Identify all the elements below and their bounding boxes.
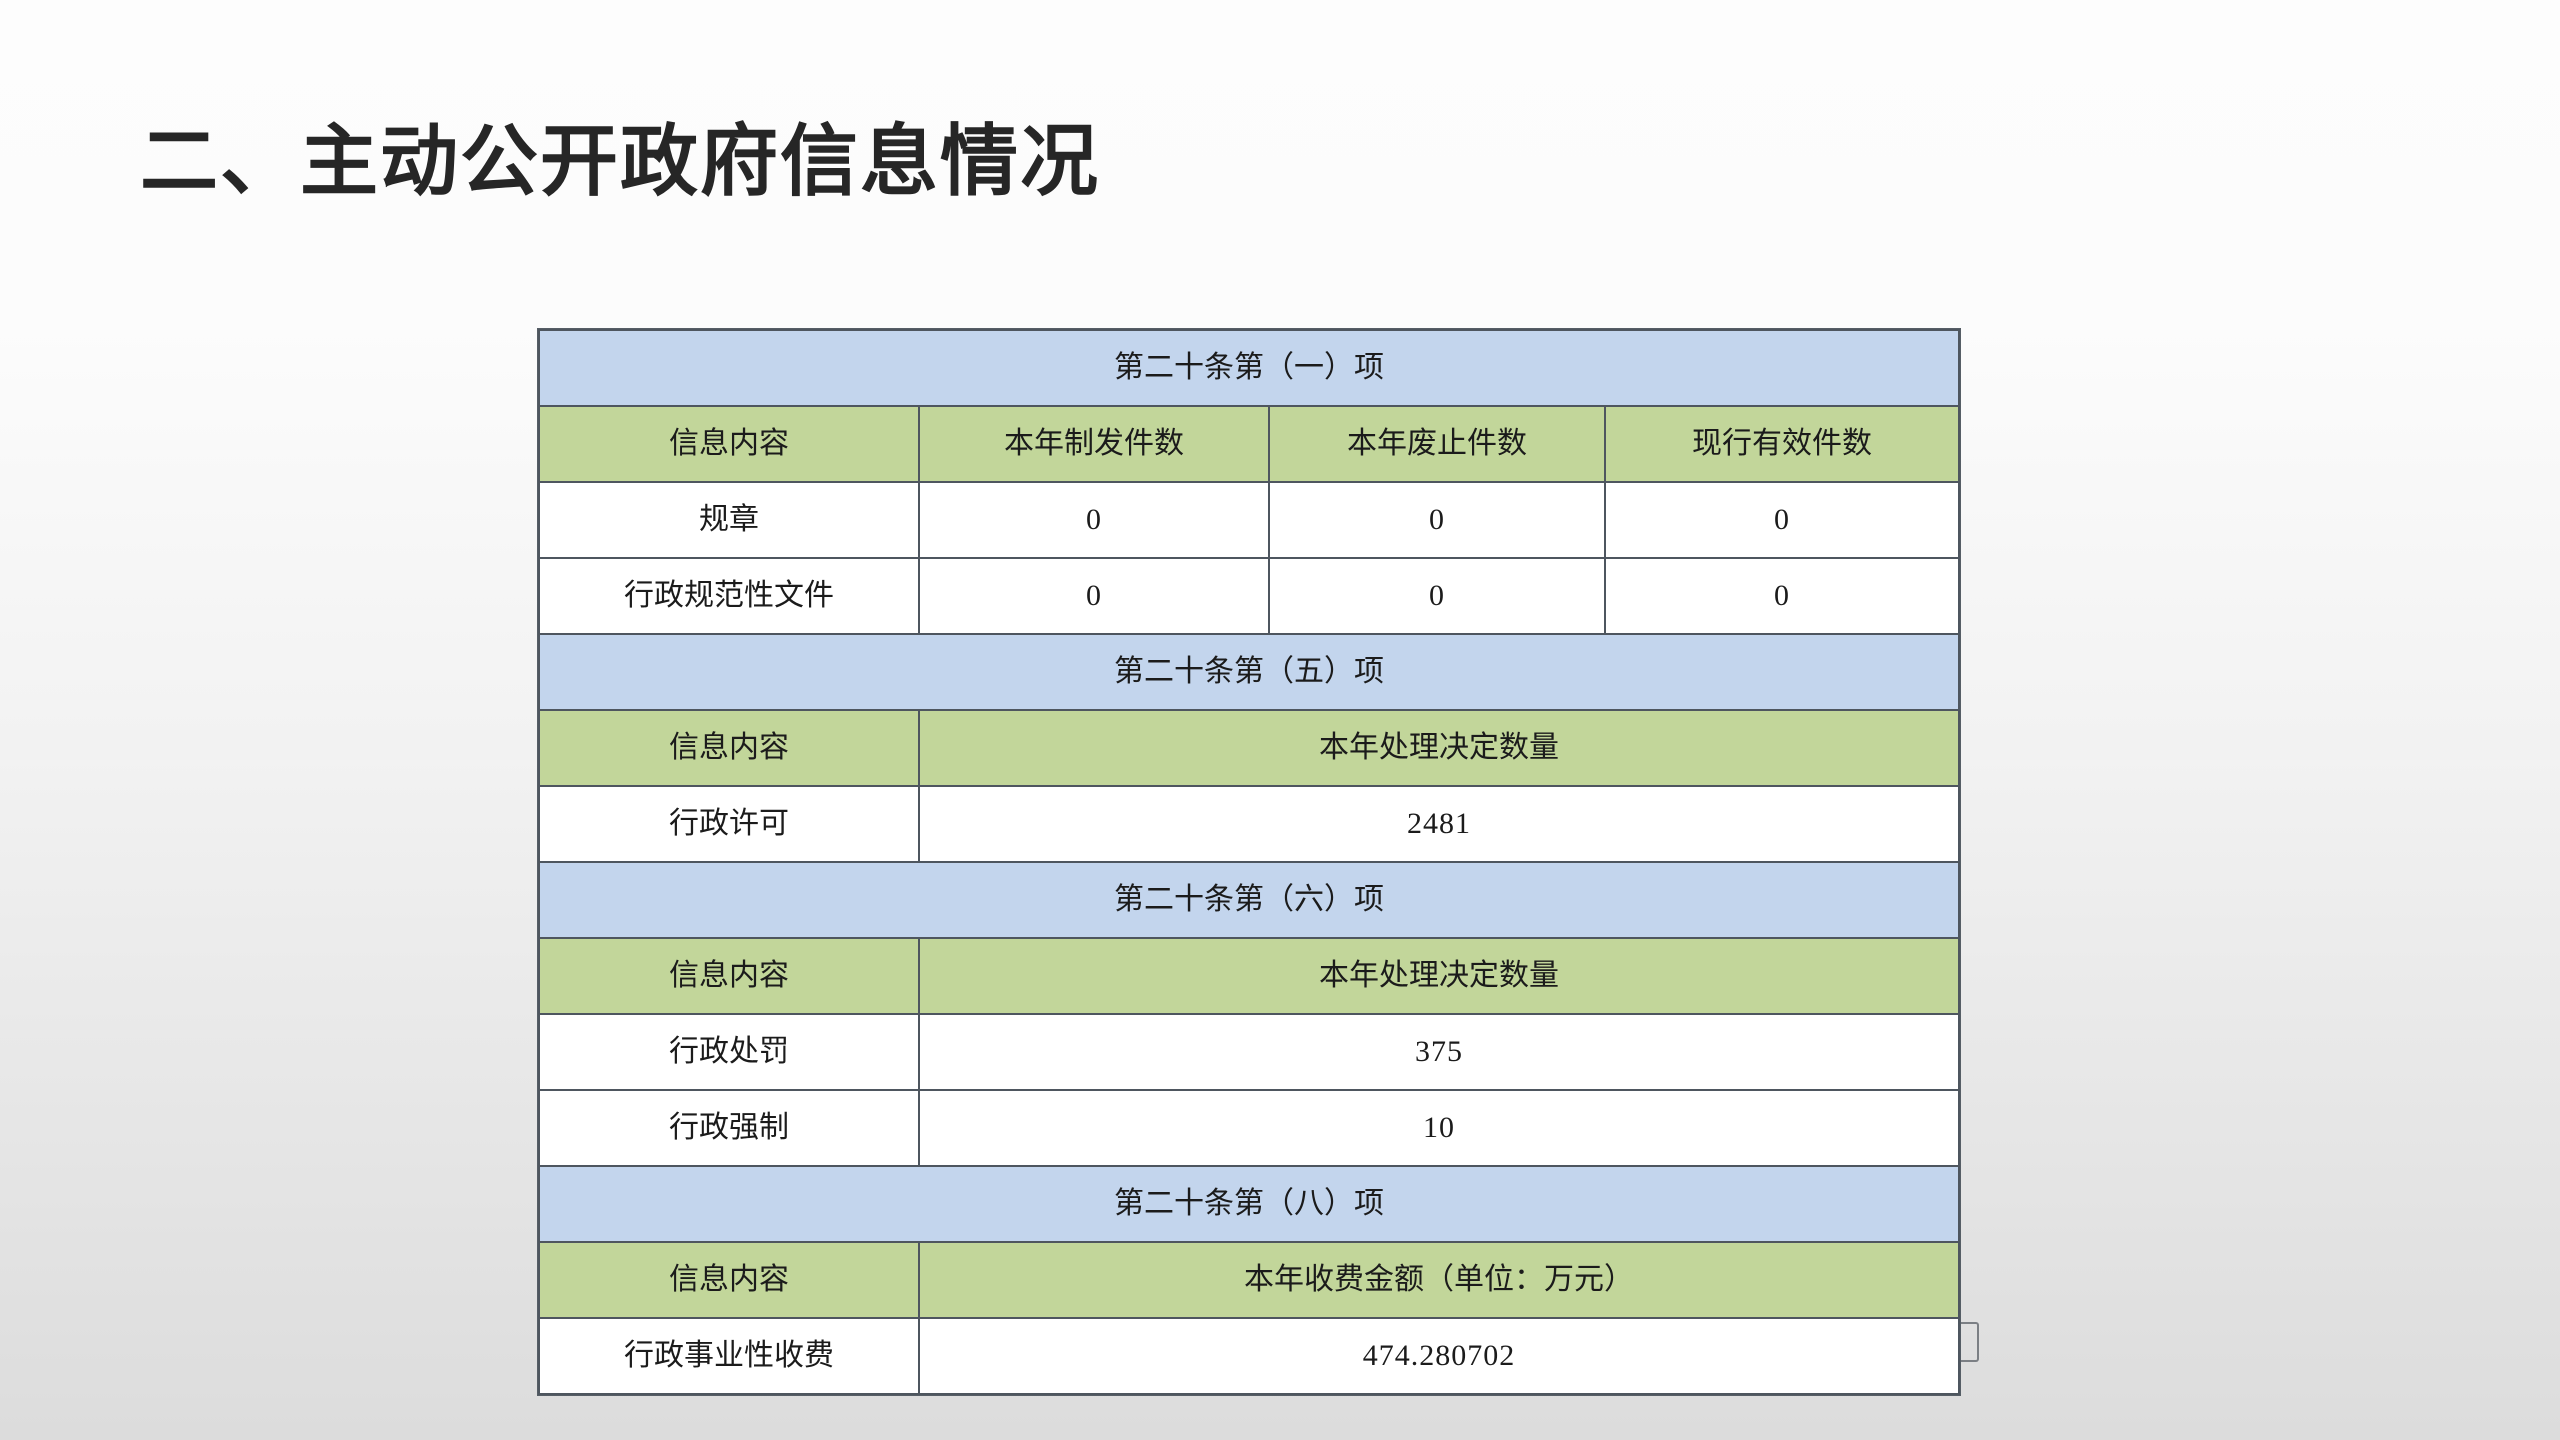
section-title-1: 第二十条第（一）项 [539, 330, 1959, 406]
cell-admin-license-count: 2481 [919, 786, 1959, 862]
cell-regulation-effective: 0 [1605, 482, 1959, 558]
row-label-admin-fee: 行政事业性收费 [539, 1318, 919, 1394]
section-title-3: 第二十条第（六）项 [539, 862, 1959, 938]
cell-normative-abolished: 0 [1269, 558, 1605, 634]
cell-admin-fee-amount: 474.280702 [919, 1318, 1959, 1394]
column-header-2-1: 本年处理决定数量 [919, 710, 1959, 786]
table-row: 行政处罚 375 [539, 1014, 1959, 1090]
info-table-container: 第二十条第（一）项 信息内容 本年制发件数 本年废止件数 现行有效件数 规章 0… [538, 329, 1958, 1395]
section-title-4: 第二十条第（八）项 [539, 1166, 1959, 1242]
column-header-row: 信息内容 本年收费金额（单位：万元） [539, 1242, 1959, 1318]
row-label-admin-license: 行政许可 [539, 786, 919, 862]
row-label-regulation: 规章 [539, 482, 919, 558]
cell-regulation-issued: 0 [919, 482, 1269, 558]
section-header-row: 第二十条第（五）项 [539, 634, 1959, 710]
cell-normative-effective: 0 [1605, 558, 1959, 634]
public-information-table: 第二十条第（一）项 信息内容 本年制发件数 本年废止件数 现行有效件数 规章 0… [538, 329, 1960, 1395]
cell-admin-penalty-count: 375 [919, 1014, 1959, 1090]
cell-regulation-abolished: 0 [1269, 482, 1605, 558]
column-header-3-1: 本年处理决定数量 [919, 938, 1959, 1014]
column-header-4-1: 本年收费金额（单位：万元） [919, 1242, 1959, 1318]
column-header-row: 信息内容 本年处理决定数量 [539, 710, 1959, 786]
column-header-1-1: 本年制发件数 [919, 406, 1269, 482]
row-label-admin-coercion: 行政强制 [539, 1090, 919, 1166]
column-header-row: 信息内容 本年制发件数 本年废止件数 现行有效件数 [539, 406, 1959, 482]
column-header-3-0: 信息内容 [539, 938, 919, 1014]
column-header-1-2: 本年废止件数 [1269, 406, 1605, 482]
column-header-1-0: 信息内容 [539, 406, 919, 482]
column-header-1-3: 现行有效件数 [1605, 406, 1959, 482]
cell-normative-issued: 0 [919, 558, 1269, 634]
section-title-2: 第二十条第（五）项 [539, 634, 1959, 710]
table-row: 规章 0 0 0 [539, 482, 1959, 558]
column-header-4-0: 信息内容 [539, 1242, 919, 1318]
table-row: 行政规范性文件 0 0 0 [539, 558, 1959, 634]
section-header-row: 第二十条第（一）项 [539, 330, 1959, 406]
page-title: 二、主动公开政府信息情况 [140, 118, 1100, 205]
column-header-2-0: 信息内容 [539, 710, 919, 786]
table-row: 行政强制 10 [539, 1090, 1959, 1166]
column-header-row: 信息内容 本年处理决定数量 [539, 938, 1959, 1014]
row-label-normative-doc: 行政规范性文件 [539, 558, 919, 634]
table-row: 行政事业性收费 474.280702 [539, 1318, 1959, 1394]
table-row: 行政许可 2481 [539, 786, 1959, 862]
table-resize-handle-icon[interactable] [1961, 1322, 1979, 1362]
row-label-admin-penalty: 行政处罚 [539, 1014, 919, 1090]
section-header-row: 第二十条第（六）项 [539, 862, 1959, 938]
section-header-row: 第二十条第（八）项 [539, 1166, 1959, 1242]
cell-admin-coercion-count: 10 [919, 1090, 1959, 1166]
